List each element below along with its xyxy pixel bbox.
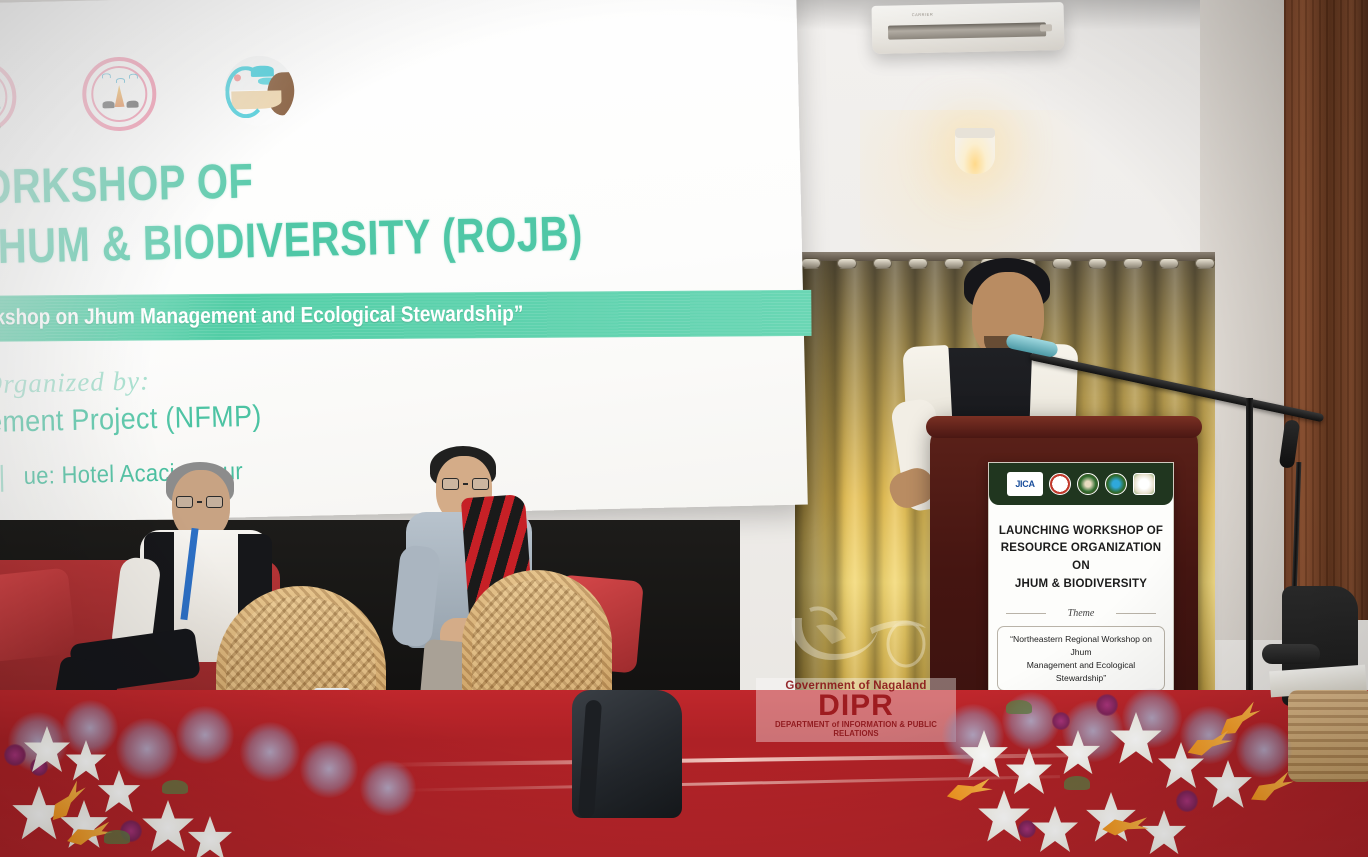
microphone-stand <box>1246 398 1253 698</box>
podium-title-line1: LAUNCHING WORKSHOP OF <box>995 523 1167 541</box>
jhum-cultivation-emblem-logo <box>81 56 157 132</box>
dipr-line3: DEPARTMENT of INFORMATION & PUBLIC RELAT… <box>756 720 956 738</box>
projection-screen: ROJB HING WORKSHOP OF ON ON JHUM & BIODI… <box>0 0 808 523</box>
rojb-emblem-icon <box>1133 473 1155 495</box>
ac-indicator <box>1040 24 1052 31</box>
sapling-emblem-icon <box>1077 473 1099 495</box>
podium-theme-box: “Northeastern Regional Workshop on Jhum … <box>997 626 1165 692</box>
screen-organized-by-label: Organized by: <box>0 365 150 400</box>
ac-brand-label: CARRIER <box>912 12 934 17</box>
landscape-circle-logo <box>221 53 297 129</box>
air-conditioner-unit: CARRIER <box>872 2 1065 54</box>
dipr-text-plate: Government of Nagaland DIPR DEPARTMENT o… <box>756 678 956 742</box>
podium-title-line3: JHUM & BIODIVERSITY <box>995 576 1167 594</box>
screen-logo-row: ROJB <box>0 47 523 136</box>
dipr-watermark: Government of Nagaland DIPR DEPARTMENT o… <box>756 604 956 754</box>
podium-sign-title: LAUNCHING WORKSHOP OF RESOURCE ORGANIZAT… <box>995 523 1167 594</box>
podium-sign-logo-bar: JICA <box>989 463 1173 505</box>
podium-theme-line2: Management and Ecological Stewardship” <box>1003 659 1159 685</box>
dipr-line2: DIPR <box>756 692 956 720</box>
sofa-cushion <box>0 568 76 663</box>
sandal <box>1262 644 1320 664</box>
mithun-horn-emblem-icon <box>774 604 934 682</box>
screen-theme-text: orkshop on Jhum Management and Ecologica… <box>0 302 523 332</box>
screen-footer-divider: | <box>0 459 6 493</box>
podium-theme-line1: “Northeastern Regional Workshop on Jhum <box>1003 633 1159 659</box>
rojb-logo-text: ROJB <box>0 117 20 136</box>
podium-title-line2: RESOURCE ORGANIZATION ON <box>995 540 1167 576</box>
globe-leaf-emblem-icon <box>1105 473 1127 495</box>
screen-title: HING WORKSHOP OF ON ON JHUM & BIODIVERSI… <box>0 141 730 280</box>
jica-logo: JICA <box>1007 472 1043 496</box>
podium-theme-label: Theme <box>1006 608 1156 619</box>
wicker-stool <box>1288 690 1368 782</box>
mithun-emblem-icon <box>1049 473 1071 495</box>
ac-vent <box>888 22 1046 39</box>
podium-top-edge <box>926 416 1202 438</box>
wall-sconce-light <box>955 128 995 174</box>
rojb-logo: ROJB <box>0 58 17 134</box>
eyeglasses <box>176 496 223 508</box>
photograph-scene: CARRIER <box>0 0 1368 857</box>
screen-theme-band: orkshop on Jhum Management and Ecologica… <box>0 290 812 343</box>
sconce-bracket <box>955 128 995 138</box>
eyeglasses <box>442 478 489 490</box>
